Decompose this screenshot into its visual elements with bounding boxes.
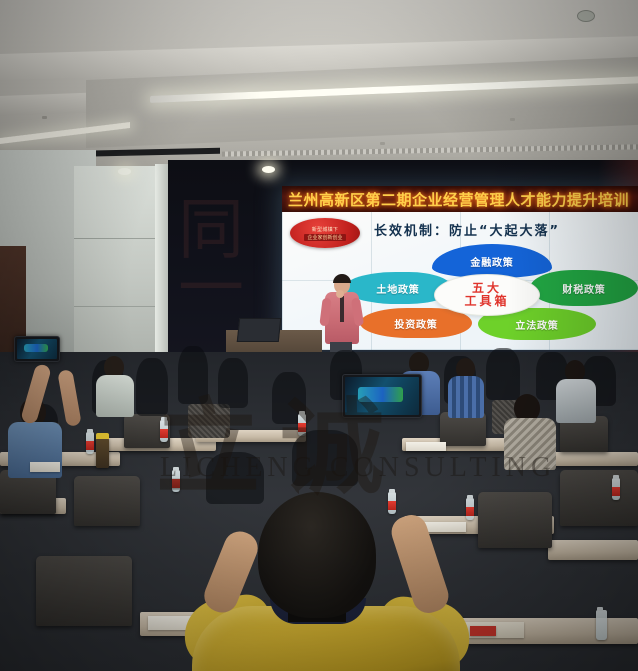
- torso: [448, 376, 484, 418]
- photo-scene: 同 一 兰州高新区第二期企业经营管理人才能力提升培训 新型城镇下 企业家创新创业…: [0, 0, 638, 671]
- bottle-label: [298, 423, 306, 432]
- event-banner-text: 兰州高新区第二期企业经营管理人才能力提升培训: [282, 189, 629, 210]
- phone-screen: [345, 377, 419, 415]
- presenter-hand: [336, 290, 344, 298]
- audience-member: [486, 348, 520, 400]
- office-chair: [36, 556, 132, 626]
- wall-panel: [74, 166, 162, 374]
- handout-paper: [406, 442, 446, 451]
- bottle-cap: [87, 429, 93, 433]
- ceiling-fixture: [510, 118, 515, 121]
- thermos-tumbler: [96, 438, 109, 468]
- office-chair: [560, 470, 638, 526]
- smartphone-recording[interactable]: [14, 336, 60, 362]
- bottle-label: [612, 487, 620, 496]
- center-line-2: 工具箱: [464, 295, 509, 308]
- bottle-label: [160, 429, 168, 438]
- slide-logo-line1: 新型城镇下: [312, 226, 339, 233]
- phone-screen: [17, 339, 57, 359]
- water-bottle: [596, 610, 607, 640]
- office-chair: [74, 476, 140, 526]
- policy-center-label: 五大 工具箱: [434, 274, 540, 316]
- slide-logo: 新型城镇下 企业家创新创业: [290, 218, 360, 248]
- ceiling-vent-icon: [577, 10, 595, 22]
- presenter: [322, 276, 362, 356]
- office-chair: [188, 404, 230, 438]
- foreground-attendee: [170, 470, 500, 671]
- panel-seam: [74, 306, 162, 307]
- foreground-head: [258, 492, 376, 618]
- slide-logo-line2: 企业家创新创业: [304, 234, 345, 241]
- panel-seam: [74, 238, 162, 239]
- presenter-tie: [340, 296, 344, 322]
- policy-box-investment: 投资政策: [360, 308, 472, 338]
- wall-pillar: [155, 164, 169, 376]
- phone-screen-preview: [358, 387, 402, 402]
- laptop: [237, 318, 282, 342]
- tumbler-cap: [96, 433, 109, 439]
- ceiling-grille: [222, 144, 638, 156]
- bottle-cap: [299, 411, 305, 415]
- torso: [556, 379, 596, 423]
- water-bottle: [160, 420, 168, 442]
- bottle-label: [86, 441, 94, 450]
- phone-screen-preview: [24, 344, 48, 352]
- water-bottle: [86, 432, 94, 454]
- bottle-cap: [161, 417, 167, 421]
- bottle-cap: [613, 475, 619, 479]
- downlight-icon: [262, 166, 275, 173]
- audience-member: [218, 358, 248, 408]
- slide-title: 长效机制：防止“大起大落”: [374, 220, 560, 239]
- torso: [96, 375, 134, 417]
- training-desk: [548, 540, 638, 560]
- water-bottle: [612, 478, 620, 500]
- smartphone-recording[interactable]: [342, 374, 422, 418]
- downlight-icon: [118, 168, 131, 175]
- audience-member: [178, 346, 208, 404]
- bottle-cap: [597, 607, 603, 611]
- policy-box-fiscal: 财税政策: [530, 270, 638, 306]
- presenter-hair: [333, 274, 351, 283]
- torso: [504, 418, 556, 470]
- ceiling-fixture: [42, 116, 47, 119]
- handout-paper: [30, 462, 60, 472]
- audience-member: [136, 358, 168, 416]
- ceiling-fixture: [380, 142, 385, 145]
- event-banner: 兰州高新区第二期企业经营管理人才能力提升培训: [282, 186, 638, 212]
